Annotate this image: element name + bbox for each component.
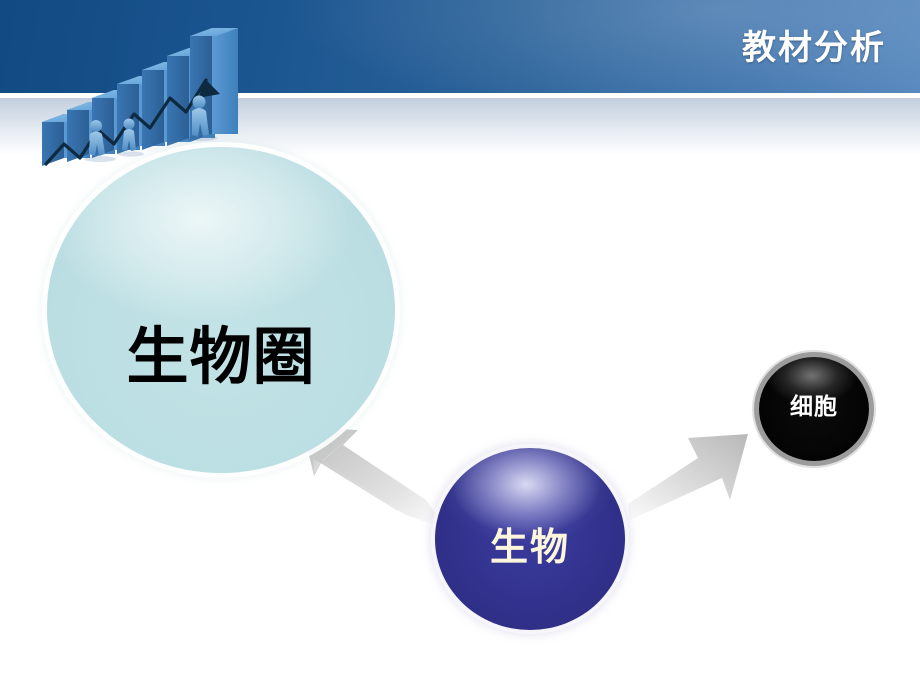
bar-chart-3d-icon [30, 18, 260, 168]
node-cell[interactable]: 细胞 [759, 357, 869, 461]
node-organism-label: 生物 [435, 526, 625, 568]
slide-canvas: 教材分析 [0, 0, 920, 690]
arrow-organism-to-cell [626, 418, 768, 522]
node-organism[interactable]: 生物 [435, 448, 625, 630]
node-biosphere[interactable]: 生物圈 [47, 147, 395, 473]
page-title: 教材分析 [742, 28, 886, 68]
node-cell-label: 细胞 [759, 394, 869, 420]
node-biosphere-label: 生物圈 [47, 325, 395, 389]
